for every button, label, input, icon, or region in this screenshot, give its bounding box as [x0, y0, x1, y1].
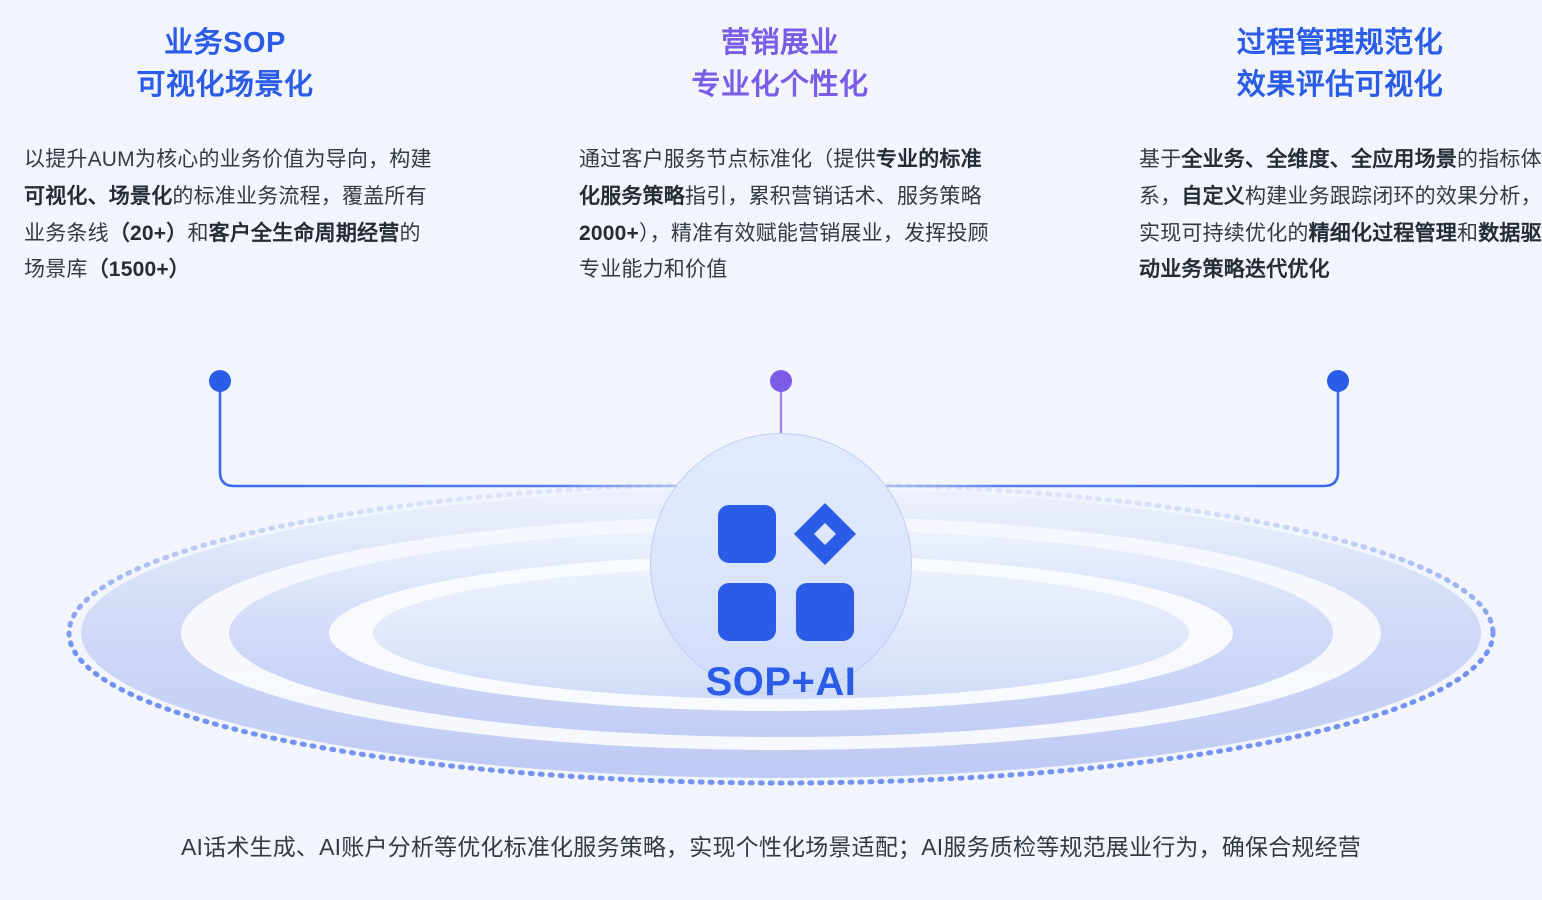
column-2: 营销展业 专业化个性化 通过客户服务节点标准化（提供专业的标准化服务策略指引，累…	[565, 22, 995, 289]
column-3-title: 过程管理规范化 效果评估可视化	[1125, 22, 1542, 106]
body-emphasis: 可视化、场景化	[24, 185, 172, 208]
center-label: SOP+AI	[650, 660, 912, 705]
body-text: 和	[187, 222, 208, 245]
footer-caption: AI话术生成、AI账户分析等优化标准化服务策略，实现个性化场景适配；AI服务质检…	[0, 828, 1542, 862]
body-text: 以提升AUM为核心的业务价值为导向，构建	[24, 148, 432, 171]
column-3: 过程管理规范化 效果评估可视化 基于全业务、全维度、全应用场景的指标体系，自定义…	[1125, 22, 1542, 289]
column-1-title: 业务SOP 可视化场景化	[10, 22, 440, 106]
body-text: 基于	[1139, 148, 1181, 171]
body-text: 指引，累积营销话术、服务策略	[685, 185, 982, 208]
column-1: 业务SOP 可视化场景化 以提升AUM为核心的业务价值为导向，构建可视化、场景化…	[10, 22, 440, 289]
body-text: 和	[1457, 222, 1478, 245]
body-emphasis: 精细化过程管理	[1309, 222, 1457, 245]
infographic-canvas: SOP+AI 业务SOP 可视化场景化 以提升AUM为核心的业务价值为导向，构建…	[0, 0, 1542, 900]
body-emphasis: 全业务、全维度、全应用场景	[1181, 148, 1457, 171]
node-dot-left	[209, 370, 231, 392]
body-emphasis: 客户全生命周期经营	[209, 222, 400, 245]
column-2-title: 营销展业 专业化个性化	[565, 22, 995, 106]
node-dot-right	[1327, 370, 1349, 392]
column-2-body: 通过客户服务节点标准化（提供专业的标准化服务策略指引，累积营销话术、服务策略20…	[565, 142, 995, 289]
body-emphasis: （1500+）	[88, 258, 190, 281]
sop-ai-blocks-icon	[716, 503, 856, 643]
column-1-body: 以提升AUM为核心的业务价值为导向，构建可视化、场景化的标准业务流程，覆盖所有业…	[10, 142, 440, 289]
column-3-body: 基于全业务、全维度、全应用场景的指标体系，自定义构建业务跟踪闭环的效果分析，实现…	[1125, 142, 1542, 289]
body-emphasis: 2000+	[579, 222, 639, 245]
body-emphasis: （20+）	[109, 222, 188, 245]
body-emphasis: 自定义	[1181, 185, 1245, 208]
body-text: ），精准有效赋能营销展业，发挥投顾专业能力和价值	[579, 222, 989, 282]
node-dot-center	[770, 370, 792, 392]
body-text: 通过客户服务节点标准化（提供	[579, 148, 876, 171]
